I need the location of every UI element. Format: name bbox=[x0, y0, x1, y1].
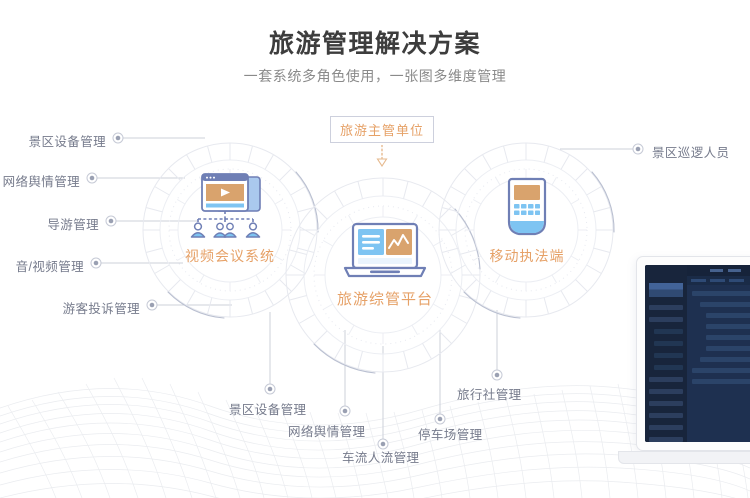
dashboard-row bbox=[706, 324, 750, 329]
spoke-label-bottom-3[interactable]: 停车场管理 bbox=[418, 424, 483, 443]
dashboard-menu-item bbox=[649, 401, 683, 406]
dashboard-menu-subitem bbox=[654, 353, 683, 358]
dashboard-menu-subitem bbox=[654, 365, 683, 370]
dashboard-menu-item bbox=[649, 317, 683, 322]
laptop-dashboard-icon bbox=[310, 222, 460, 282]
infographic-canvas: 旅游管理解决方案 一套系统多角色使用，一张图多维度管理 bbox=[0, 0, 750, 498]
page-subtitle: 一套系统多角色使用，一张图多维度管理 bbox=[0, 66, 750, 86]
video-conference-icon bbox=[165, 172, 295, 240]
dashboard-row bbox=[706, 313, 750, 318]
dashboard-menu-item bbox=[649, 377, 683, 382]
dashboard-tabs bbox=[687, 276, 750, 285]
spoke-label-left-0[interactable]: 景区设备管理 bbox=[0, 131, 106, 150]
dashboard-menu-item bbox=[649, 413, 683, 418]
dashboard-tree bbox=[687, 285, 750, 396]
spoke-label-bottom-2[interactable]: 车流人流管理 bbox=[342, 447, 419, 466]
dashboard-menu-item bbox=[649, 389, 683, 394]
spoke-label-left-2[interactable]: 导游管理 bbox=[0, 214, 99, 233]
spoke-label-bottom-1[interactable]: 网络舆情管理 bbox=[288, 421, 365, 440]
dashboard-logo bbox=[649, 283, 683, 297]
hub-mobile-enforcement[interactable]: 移动执法端 bbox=[462, 176, 592, 266]
dashboard-menu-item bbox=[649, 305, 683, 310]
dashboard-row bbox=[706, 346, 750, 351]
spoke-label-right-0[interactable]: 景区巡逻人员 bbox=[652, 142, 729, 161]
dashboard-row bbox=[700, 357, 750, 362]
dashboard-menu-subitem bbox=[654, 329, 683, 334]
dashboard-topbar bbox=[687, 265, 750, 276]
page-title: 旅游管理解决方案 bbox=[0, 24, 750, 60]
hub-mobile-enforcement-label: 移动执法端 bbox=[462, 246, 592, 266]
laptop-base bbox=[618, 451, 750, 464]
hub-video-conference-label: 视频会议系统 bbox=[165, 246, 295, 266]
handheld-device-icon bbox=[462, 176, 592, 240]
laptop-screen bbox=[645, 265, 750, 442]
hub-tourism-platform-label: 旅游综管平台 bbox=[310, 288, 460, 309]
dotted-down-arrow-icon bbox=[372, 145, 392, 167]
spoke-label-left-3[interactable]: 音/视频管理 bbox=[0, 256, 84, 275]
dashboard-row bbox=[692, 368, 750, 373]
dashboard-menu-subitem bbox=[654, 341, 683, 346]
dashboard-row bbox=[692, 379, 750, 384]
authority-badge: 旅游主管单位 bbox=[330, 116, 434, 143]
dashboard-row bbox=[692, 291, 750, 296]
admin-dashboard-preview bbox=[636, 256, 750, 498]
spoke-label-bottom-4[interactable]: 旅行社管理 bbox=[457, 384, 522, 403]
spoke-label-left-4[interactable]: 游客投诉管理 bbox=[0, 298, 140, 317]
spoke-label-left-1[interactable]: 网络舆情管理 bbox=[0, 171, 80, 190]
hub-video-conference[interactable]: 视频会议系统 bbox=[165, 172, 295, 266]
dashboard-row bbox=[700, 302, 750, 307]
dashboard-menu-item bbox=[649, 425, 683, 430]
dashboard-sidebar bbox=[645, 265, 687, 442]
dashboard-row bbox=[706, 335, 750, 340]
right-spoke-dots bbox=[633, 144, 643, 154]
spoke-label-bottom-0[interactable]: 景区设备管理 bbox=[229, 399, 306, 418]
laptop-lid bbox=[636, 256, 750, 451]
dashboard-content bbox=[687, 265, 750, 442]
hub-tourism-platform[interactable]: 旅游综管平台 bbox=[310, 222, 460, 309]
authority-badge-label: 旅游主管单位 bbox=[340, 120, 424, 139]
dashboard-menu-item bbox=[649, 437, 683, 442]
